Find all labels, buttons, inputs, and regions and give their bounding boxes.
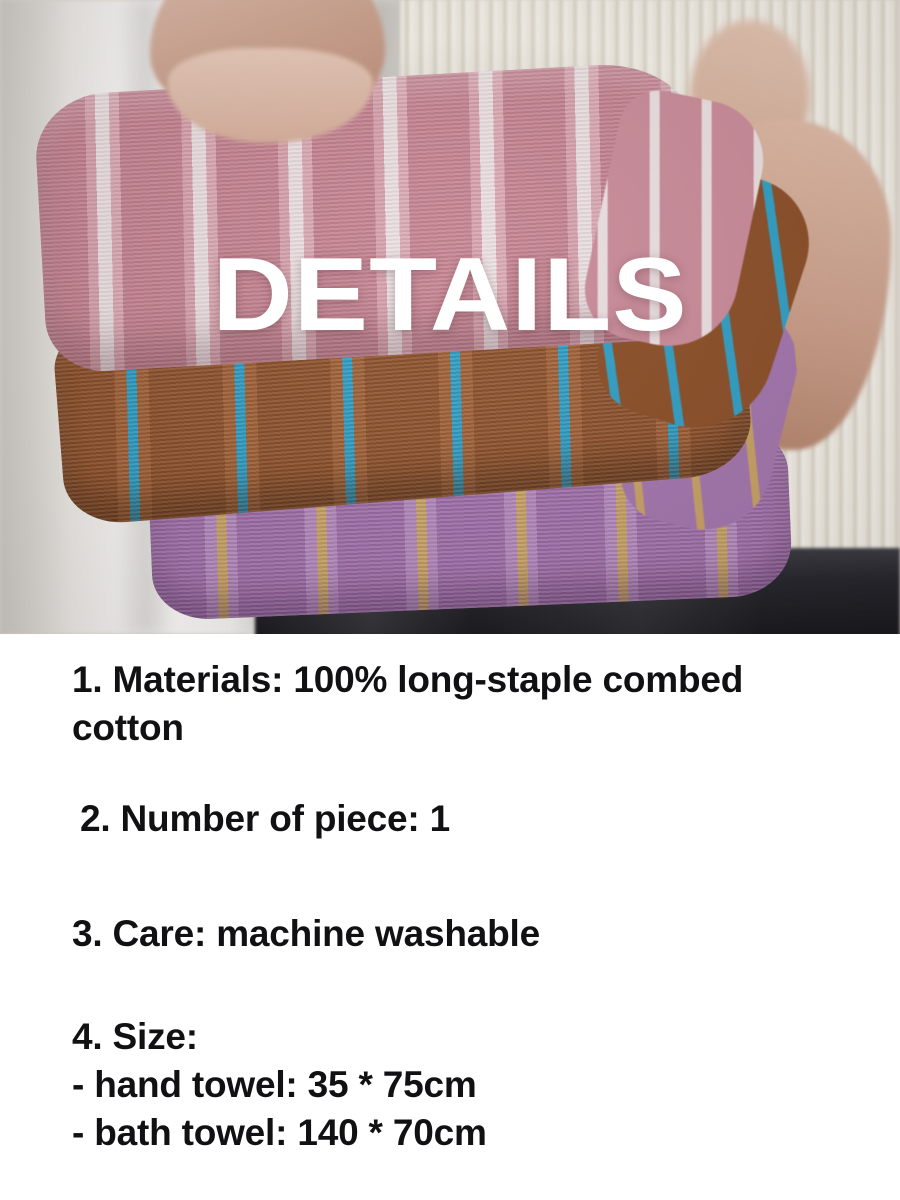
spec-care-line-1: 3. Care: machine washable xyxy=(72,910,852,958)
spec-size-hand-towel: - hand towel: 35 * 75cm xyxy=(72,1061,852,1109)
product-hero-photo: DETAILS xyxy=(0,0,900,634)
spec-size-bath-towel: - bath towel: 140 * 70cm xyxy=(72,1109,852,1157)
spec-materials-line-1: 1. Materials: 100% long-staple combed xyxy=(72,656,872,704)
product-detail-page: DETAILS 1. Materials: 100% long-staple c… xyxy=(0,0,900,1200)
spec-item-number-of-piece: 2. Number of piece: 1 xyxy=(80,795,860,843)
product-details-panel: 1. Materials: 100% long-staple combed co… xyxy=(0,634,900,1200)
hero-headline: DETAILS xyxy=(0,243,900,347)
spec-item-size: 4. Size: - hand towel: 35 * 75cm - bath … xyxy=(72,1013,852,1157)
spec-number-of-piece-line-1: 2. Number of piece: 1 xyxy=(80,795,860,843)
spec-materials-line-2: cotton xyxy=(72,704,872,752)
spec-item-care: 3. Care: machine washable xyxy=(72,910,852,958)
spec-item-materials: 1. Materials: 100% long-staple combed co… xyxy=(72,656,872,752)
spec-size-line-1: 4. Size: xyxy=(72,1013,852,1061)
